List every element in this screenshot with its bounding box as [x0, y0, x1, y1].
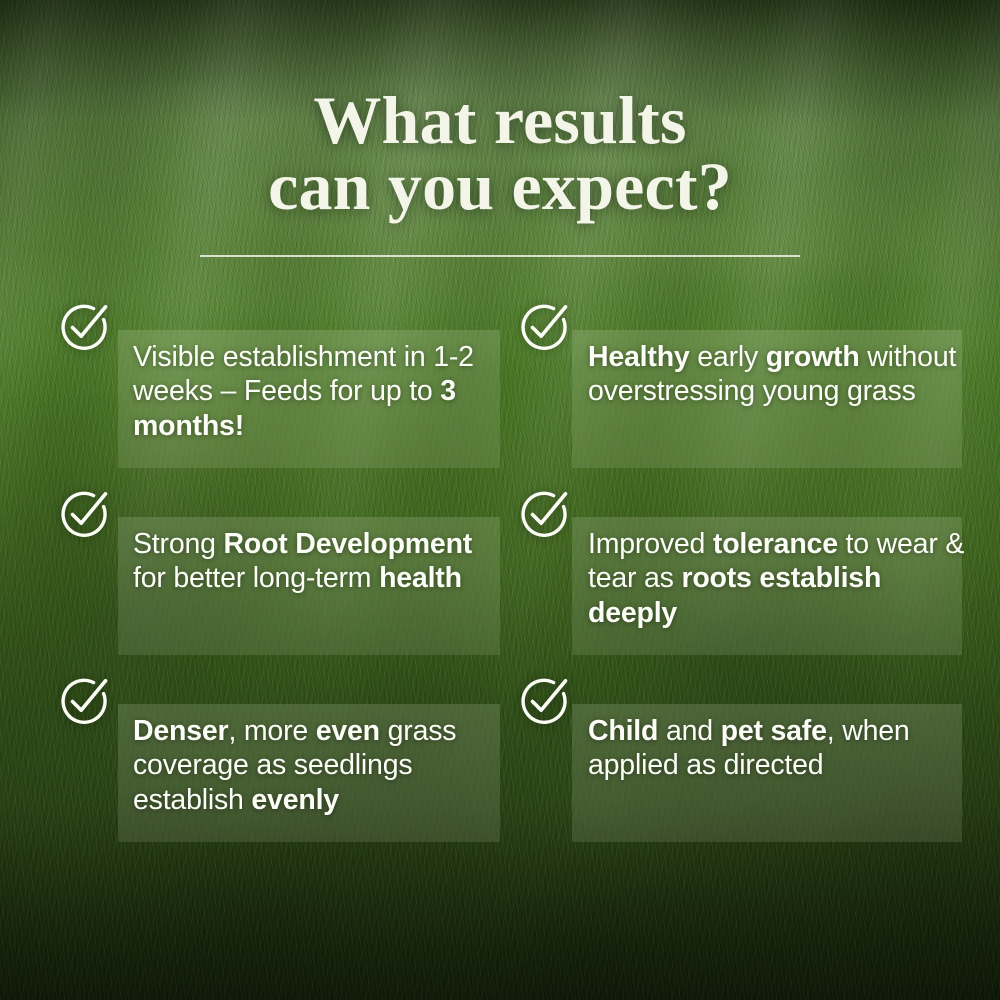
benefit-text-emphasis: even	[316, 715, 380, 747]
poster-content: What results can you expect? Visible est…	[0, 0, 1000, 1000]
headline-line-1: What results	[313, 82, 686, 158]
benefit-card: Improved tolerance to wear & tear as roo…	[518, 483, 968, 643]
benefit-text: Improved tolerance to wear & tear as roo…	[588, 527, 970, 630]
benefit-text-emphasis: evenly	[251, 784, 339, 816]
benefit-card: Strong Root Development for better long-…	[58, 483, 508, 643]
benefit-text-emphasis: growth	[766, 341, 860, 373]
benefit-card: Child and pet safe, when applied as dire…	[518, 670, 968, 830]
benefit-text-emphasis: Root Development	[224, 528, 473, 560]
benefit-text: Child and pet safe, when applied as dire…	[588, 714, 970, 783]
headline-line-2: can you expect?	[0, 154, 1000, 220]
check-circle-icon	[518, 676, 570, 728]
benefit-text-emphasis: health	[379, 562, 462, 594]
check-circle-icon	[58, 302, 110, 354]
benefit-text-emphasis: Child	[588, 715, 658, 747]
benefit-card: Visible establishment in 1-2 weeks – Fee…	[58, 296, 508, 456]
check-circle-icon	[58, 489, 110, 541]
benefit-text-emphasis: Healthy	[588, 341, 690, 373]
title-divider	[200, 255, 800, 257]
benefit-text-emphasis: tolerance	[713, 528, 838, 560]
check-circle-icon	[58, 676, 110, 728]
check-circle-icon	[518, 489, 570, 541]
benefit-card: Healthy early growth without overstressi…	[518, 296, 968, 456]
benefit-text: Healthy early growth without overstressi…	[588, 340, 970, 409]
results-poster: What results can you expect? Visible est…	[0, 0, 1000, 1000]
benefit-text-emphasis: Denser	[133, 715, 228, 747]
check-circle-icon	[518, 302, 570, 354]
benefit-text: Strong Root Development for better long-…	[133, 527, 505, 596]
page-title: What results can you expect?	[0, 88, 1000, 220]
benefits-grid: Visible establishment in 1-2 weeks – Fee…	[0, 296, 1000, 830]
benefit-text: Visible establishment in 1-2 weeks – Fee…	[133, 340, 505, 443]
benefit-text: Denser, more even grass coverage as seed…	[133, 714, 505, 817]
benefit-card: Denser, more even grass coverage as seed…	[58, 670, 508, 830]
benefit-text-emphasis: pet safe	[721, 715, 827, 747]
